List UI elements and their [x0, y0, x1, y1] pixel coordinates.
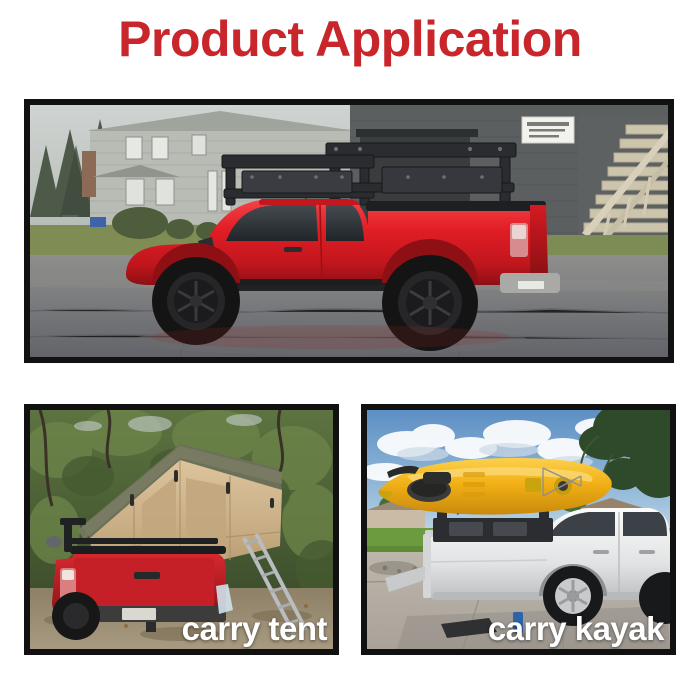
photo-tent-inner: carry tent: [30, 410, 333, 649]
product-application-page: Product Application: [0, 0, 700, 700]
page-title: Product Application: [0, 14, 700, 64]
photo-tent-illustration: [30, 410, 333, 649]
photo-kayak-illustration: [367, 410, 670, 649]
photo-main-truck-with-bed-rack: [24, 99, 674, 363]
photo-tent-application: carry tent: [24, 404, 339, 655]
photo-main-inner: [30, 105, 668, 357]
photo-main-illustration: [30, 105, 668, 357]
photo-kayak-inner: carry kayak: [367, 410, 670, 649]
photo-kayak-application: carry kayak: [361, 404, 676, 655]
